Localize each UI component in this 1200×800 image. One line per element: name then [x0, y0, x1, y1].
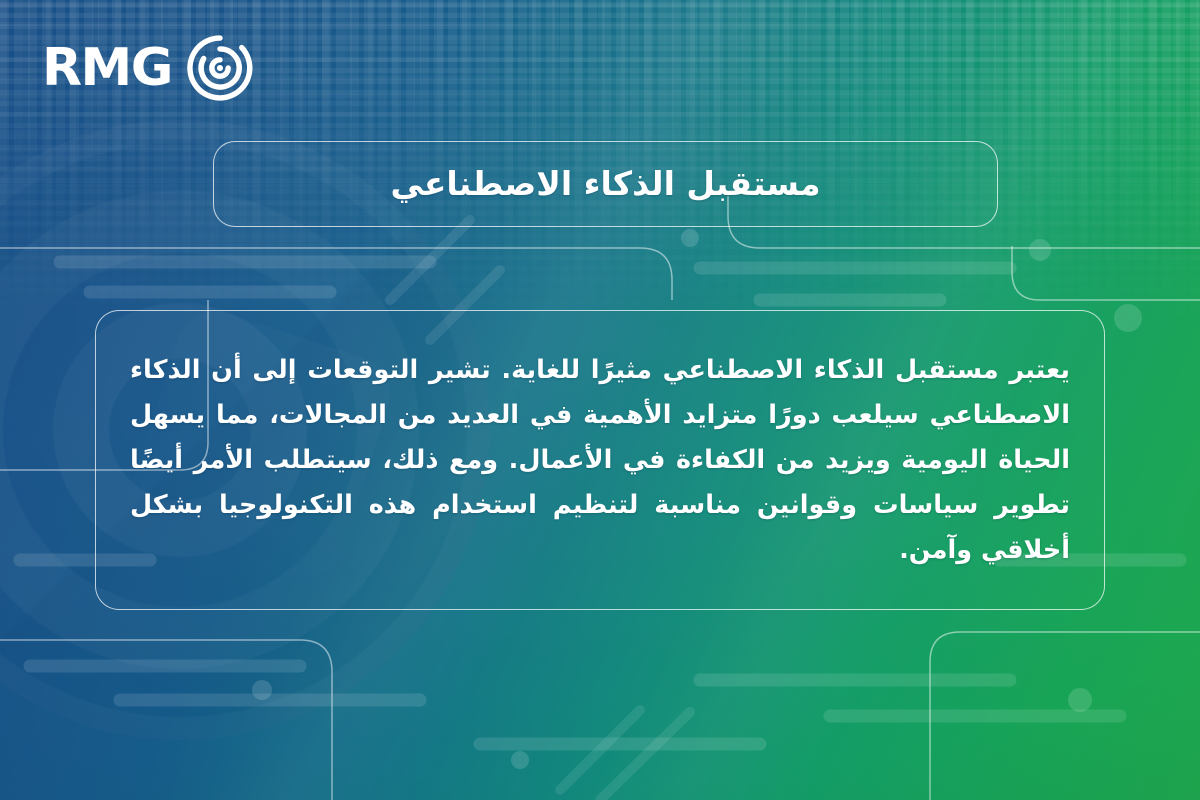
brand-name: RMG	[42, 42, 172, 94]
poster-canvas: RMG مستقبل الذكاء الاصطناعي يعتبر مستقبل…	[0, 0, 1200, 800]
page-title: مستقبل الذكاء الاصطناعي	[390, 166, 820, 202]
brand-logo[interactable]: RMG	[42, 34, 254, 102]
body-panel: يعتبر مستقبل الذكاء الاصطناعي مثيرًا للغ…	[95, 310, 1105, 610]
body-paragraph: يعتبر مستقبل الذكاء الاصطناعي مثيرًا للغ…	[130, 348, 1070, 573]
title-panel: مستقبل الذكاء الاصطناعي	[213, 141, 998, 227]
spiral-target-icon	[186, 34, 254, 102]
